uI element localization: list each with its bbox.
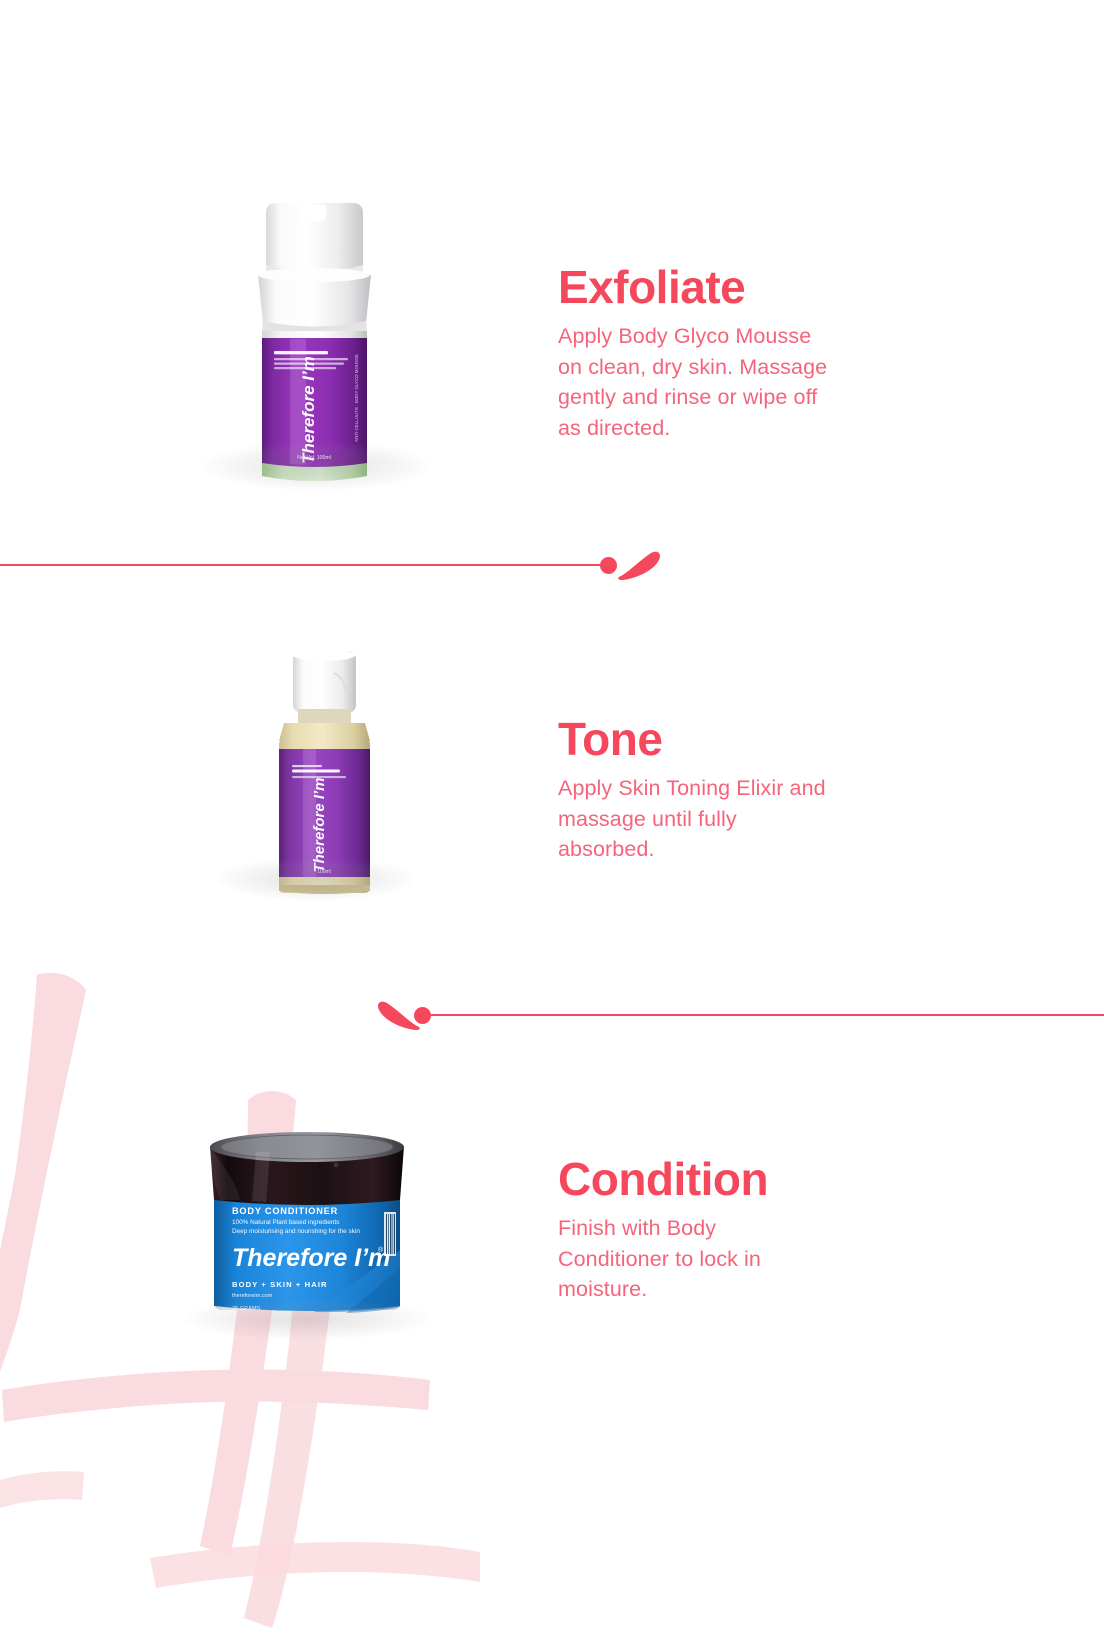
divider-line — [0, 564, 608, 566]
svg-text:Therefore I’m: Therefore I’m — [232, 1244, 390, 1272]
svg-text:®: ® — [378, 1246, 384, 1254]
step-description: Apply Skin Toning Elixir and massage unt… — [558, 773, 826, 865]
step-description: Finish with Body Conditioner to lock in … — [558, 1213, 768, 1305]
svg-text:Deep moisturising and nourishi: Deep moisturising and nourishing for the… — [232, 1228, 360, 1235]
divider-arrow-right — [0, 545, 1104, 585]
step-exfoliate-copy: Exfoliate Apply Body Glyco Mousse on cle… — [558, 263, 827, 443]
svg-text:75 GRAMS: 75 GRAMS — [232, 1306, 261, 1312]
divider-arrow-left — [0, 995, 1104, 1035]
divider-arrow-icon — [376, 1001, 420, 1036]
svg-text:BODY + SKIN + HAIR: BODY + SKIN + HAIR — [232, 1280, 328, 1289]
product-image-body-conditioner: BODY CONDITIONER 100% Natural Plant base… — [196, 1130, 416, 1345]
svg-text:Therefore I’m: Therefore I’m — [311, 777, 328, 872]
step-title: Exfoliate — [558, 263, 827, 311]
step-condition-copy: Condition Finish with Body Conditioner t… — [558, 1155, 768, 1305]
step-title: Tone — [558, 715, 826, 763]
divider-dot — [600, 557, 617, 574]
svg-text:thereforeim.com: thereforeim.com — [232, 1293, 273, 1299]
divider-line — [424, 1014, 1104, 1016]
routine-page: Therefore I’m ANTI-CELLULITE · BODY GLYC… — [0, 0, 1104, 1647]
step-tone-copy: Tone Apply Skin Toning Elixir and massag… — [558, 715, 826, 865]
product-image-skin-toning-elixir: Therefore I’m 100ml — [246, 645, 436, 910]
svg-text:Therefore I’m: Therefore I’m — [299, 356, 318, 464]
step-description: Apply Body Glyco Mousse on clean, dry sk… — [558, 321, 827, 443]
svg-text:ANTI-CELLULITE · BODY GLYCO MO: ANTI-CELLULITE · BODY GLYCO MOUSSE — [354, 354, 359, 442]
svg-text:BODY CONDITIONER: BODY CONDITIONER — [232, 1206, 338, 1216]
svg-text:100% Natural Plant based ingre: 100% Natural Plant based ingredients — [232, 1219, 339, 1226]
svg-text:100ml: 100ml — [317, 869, 331, 875]
step-exfoliate: Therefore I’m ANTI-CELLULITE · BODY GLYC… — [0, 195, 1104, 495]
product-image-body-glyco-mousse: Therefore I’m ANTI-CELLULITE · BODY GLYC… — [236, 195, 456, 500]
step-condition: BODY CONDITIONER 100% Natural Plant base… — [0, 1130, 1104, 1340]
svg-text:Net Vol. 100ml: Net Vol. 100ml — [297, 455, 331, 461]
step-tone: Therefore I’m 100ml Tone Apply Skin Toni… — [0, 645, 1104, 905]
step-title: Condition — [558, 1155, 768, 1203]
divider-arrow-icon — [618, 551, 662, 586]
